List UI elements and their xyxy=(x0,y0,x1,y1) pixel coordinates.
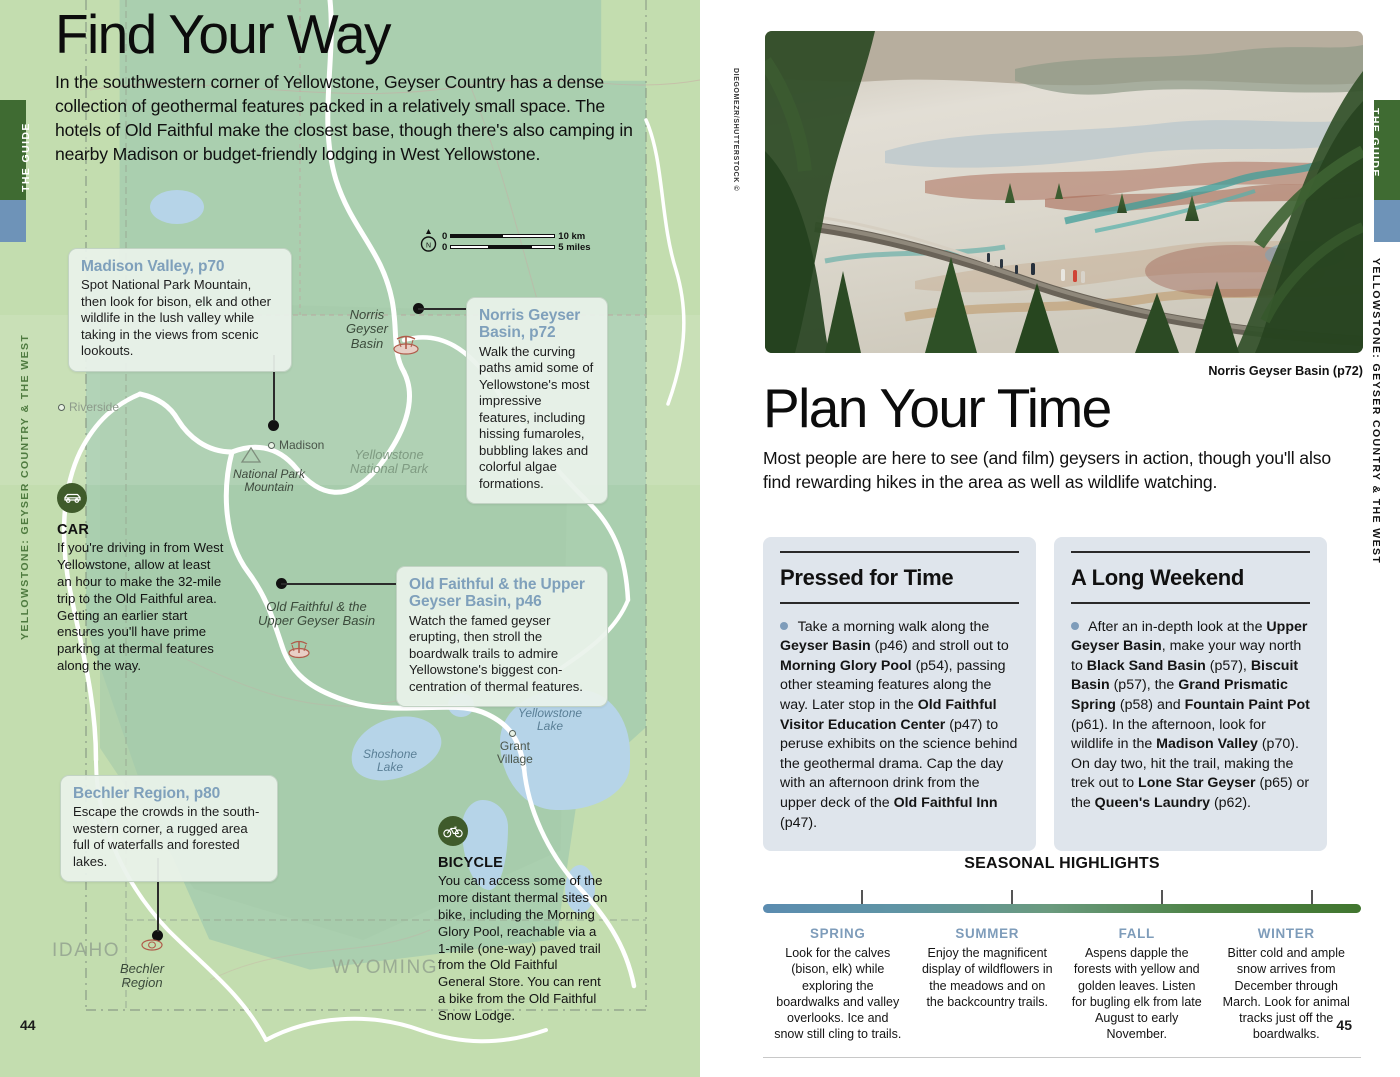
scale-zero-miles: 0 xyxy=(442,242,447,253)
callout-title: Old Faithful & the Upper Geyser Basin, p… xyxy=(409,576,595,611)
card-rule-top xyxy=(1071,551,1310,553)
season-name: WINTER xyxy=(1220,926,1354,941)
magazine-spread: IDAHO WYOMING YellowstoneNational Park N… xyxy=(0,0,1400,1077)
hero-photo-norris-geyser-basin xyxy=(765,31,1363,353)
callout-norris-geyser-basin[interactable]: Norris Geyser Basin, p72 Walk the curvin… xyxy=(466,297,608,504)
season-gradient-bar xyxy=(763,904,1361,913)
scale-max-km: 10 km xyxy=(558,231,585,242)
callout-body: Spot National Park Mountain, then look f… xyxy=(81,277,279,359)
card-pressed-for-time: Pressed for Time Take a morning walk alo… xyxy=(763,537,1036,851)
page-title: Find Your Way xyxy=(55,6,655,63)
map-town-label: Riverside xyxy=(69,400,119,414)
callout-old-faithful[interactable]: Old Faithful & the Upper Geyser Basin, p… xyxy=(396,566,608,707)
tab-section-label: YELLOWSTONE: GEYSER COUNTRY & THE WEST xyxy=(1370,258,1382,564)
right-edge-tab-column: THE GUIDE YELLOWSTONE: GEYSER COUNTRY & … xyxy=(1374,0,1400,1077)
card-a-long-weekend: A Long Weekend After an in-depth look at… xyxy=(1054,537,1327,851)
leader-line-norris xyxy=(418,308,466,310)
season-tick xyxy=(861,890,863,904)
season-name: SUMMER xyxy=(921,926,1055,941)
card-rule-bottom xyxy=(780,602,1019,604)
transport-body: If you're driving in from West Yellowsto… xyxy=(57,540,227,675)
scale-row-km: 0 10 km xyxy=(442,231,591,242)
callout-body: Watch the famed geyser erupting, then st… xyxy=(409,613,595,695)
callout-title: Madison Valley, p70 xyxy=(81,258,279,275)
season-name: SPRING xyxy=(771,926,905,941)
left-page-header: Find Your Way In the southwestern corner… xyxy=(55,6,655,167)
right-page: DIEGOMEZR/SHUTTERSTOCK © Norris Geyser B… xyxy=(700,0,1400,1077)
svg-text:N: N xyxy=(426,243,431,250)
map-town-grant-village: GrantVillage xyxy=(497,727,533,767)
scale-max-miles: 5 miles xyxy=(558,242,590,253)
geyser-symbol-old-faithful xyxy=(286,637,312,659)
photo-credit: DIEGOMEZR/SHUTTERSTOCK © xyxy=(732,68,739,191)
season-text: Aspens dapple the forests with yellow an… xyxy=(1070,945,1204,1043)
transport-block-bicycle: BICYCLE You can access some of the more … xyxy=(438,816,608,1025)
card-rule-top xyxy=(780,551,1019,553)
map-label-shoshone-lake: ShoshoneLake xyxy=(363,748,417,774)
callout-bechler-region[interactable]: Bechler Region, p80 Escape the crowds in… xyxy=(60,775,278,882)
tab-accent-block xyxy=(1374,200,1400,242)
plan-your-time-title: Plan Your Time xyxy=(763,380,1363,438)
callout-madison-valley[interactable]: Madison Valley, p70 Spot National Park M… xyxy=(68,248,292,372)
map-town-madison: Madison xyxy=(268,438,324,452)
card-heading: A Long Weekend xyxy=(1071,565,1310,591)
map-scale-bar: N 0 10 km 0 5 miles xyxy=(420,229,591,254)
transport-body: You can access some of the more distant … xyxy=(438,873,608,1025)
map-town-riverside: Riverside xyxy=(58,400,119,414)
left-page: IDAHO WYOMING YellowstoneNational Park N… xyxy=(0,0,700,1077)
season-text: Enjoy the magnificent display of wildflo… xyxy=(921,945,1055,1010)
page-number-right: 45 xyxy=(1336,1017,1352,1033)
transport-label: BICYCLE xyxy=(438,855,608,871)
bullet-dot xyxy=(780,622,788,630)
season-tick xyxy=(1161,890,1163,904)
geyser-symbol-norris xyxy=(392,333,420,355)
callout-body: Escape the crowds in the south-western c… xyxy=(73,804,265,870)
callout-body: Walk the curving paths amid some of Yell… xyxy=(479,344,595,492)
map-label-old-faithful-upper-basin: Old Faithful & theUpper Geyser Basin xyxy=(258,600,375,629)
callout-title: Norris Geyser Basin, p72 xyxy=(479,307,595,342)
map-node-madison xyxy=(268,420,279,431)
scale-zero-km: 0 xyxy=(442,231,447,242)
card-body: Take a morning walk along the Geyser Bas… xyxy=(780,618,1019,834)
card-body: After an in-depth look at the Upper Geys… xyxy=(1071,618,1310,814)
season-text: Look for the calves (bison, elk) while e… xyxy=(771,945,905,1043)
plan-your-time-intro: Most people are here to see (and film) g… xyxy=(763,447,1363,495)
scale-rows: 0 10 km 0 5 miles xyxy=(442,231,591,253)
scale-row-miles: 0 5 miles xyxy=(442,242,591,253)
transport-label: CAR xyxy=(57,522,227,538)
bicycle-icon xyxy=(438,816,468,846)
scale-track-miles xyxy=(450,245,555,250)
map-label-norris-geyser-basin: NorrisGeyserBasin xyxy=(346,308,388,351)
page-intro: In the southwestern corner of Yellowston… xyxy=(55,71,655,167)
itinerary-cards: Pressed for Time Take a morning walk alo… xyxy=(763,537,1327,851)
waterfall-symbol-bechler xyxy=(140,938,164,952)
right-page-header: Plan Your Time Most people are here to s… xyxy=(763,380,1363,495)
tab-the-guide[interactable]: THE GUIDE xyxy=(0,100,26,200)
map-label-national-park-mountain: National ParkMountain xyxy=(233,468,305,494)
map-label-yellowstone-np: YellowstoneNational Park xyxy=(350,448,428,477)
photo-caption: Norris Geyser Basin (p72) xyxy=(1208,364,1363,378)
season-spring: SPRING Look for the calves (bison, elk) … xyxy=(763,926,913,1043)
season-columns: SPRING Look for the calves (bison, elk) … xyxy=(763,926,1361,1043)
season-name: FALL xyxy=(1070,926,1204,941)
map-town-label: Madison xyxy=(279,438,324,452)
town-dot xyxy=(268,442,275,449)
tab-the-guide-label: THE GUIDE xyxy=(1369,108,1381,178)
tab-section-label: YELLOWSTONE: GEYSER COUNTRY & THE WEST xyxy=(19,334,31,640)
transport-block-car: CAR If you're driving in from West Yello… xyxy=(57,483,227,675)
mountain-symbol-national-park xyxy=(240,446,262,464)
season-fall: FALL Aspens dapple the forests with yell… xyxy=(1062,926,1212,1043)
left-edge-tab-column: THE GUIDE YELLOWSTONE: GEYSER COUNTRY & … xyxy=(0,0,26,1077)
car-icon xyxy=(57,483,87,513)
compass-north-icon: N xyxy=(420,229,437,254)
tab-the-guide[interactable]: THE GUIDE xyxy=(1374,100,1400,200)
tab-accent-block xyxy=(0,200,26,242)
callout-title: Bechler Region, p80 xyxy=(73,785,265,802)
scale-track-km xyxy=(450,234,555,239)
tab-the-guide-label: THE GUIDE xyxy=(20,122,32,192)
card-heading: Pressed for Time xyxy=(780,565,1019,591)
season-tick xyxy=(1011,890,1013,904)
card-rule-bottom xyxy=(1071,602,1310,604)
seasonal-heading: SEASONAL HIGHLIGHTS xyxy=(763,855,1361,873)
town-dot xyxy=(509,730,516,737)
bullet-dot xyxy=(1071,622,1079,630)
map-label-idaho: IDAHO xyxy=(52,940,120,962)
map-label-wyoming: WYOMING xyxy=(332,957,438,979)
leader-line-oldfaithful xyxy=(281,583,397,585)
seasonal-highlights: SEASONAL HIGHLIGHTS SPRING Look for the … xyxy=(763,855,1361,1058)
season-tick xyxy=(1311,890,1313,904)
season-summer: SUMMER Enjoy the magnificent display of … xyxy=(913,926,1063,1043)
town-dot xyxy=(58,404,65,411)
season-text: Bitter cold and ample snow arrives from … xyxy=(1220,945,1354,1043)
seasonal-bottom-rule xyxy=(763,1057,1361,1058)
season-timeline xyxy=(763,890,1361,920)
map-label-bechler-region: BechlerRegion xyxy=(120,962,164,991)
